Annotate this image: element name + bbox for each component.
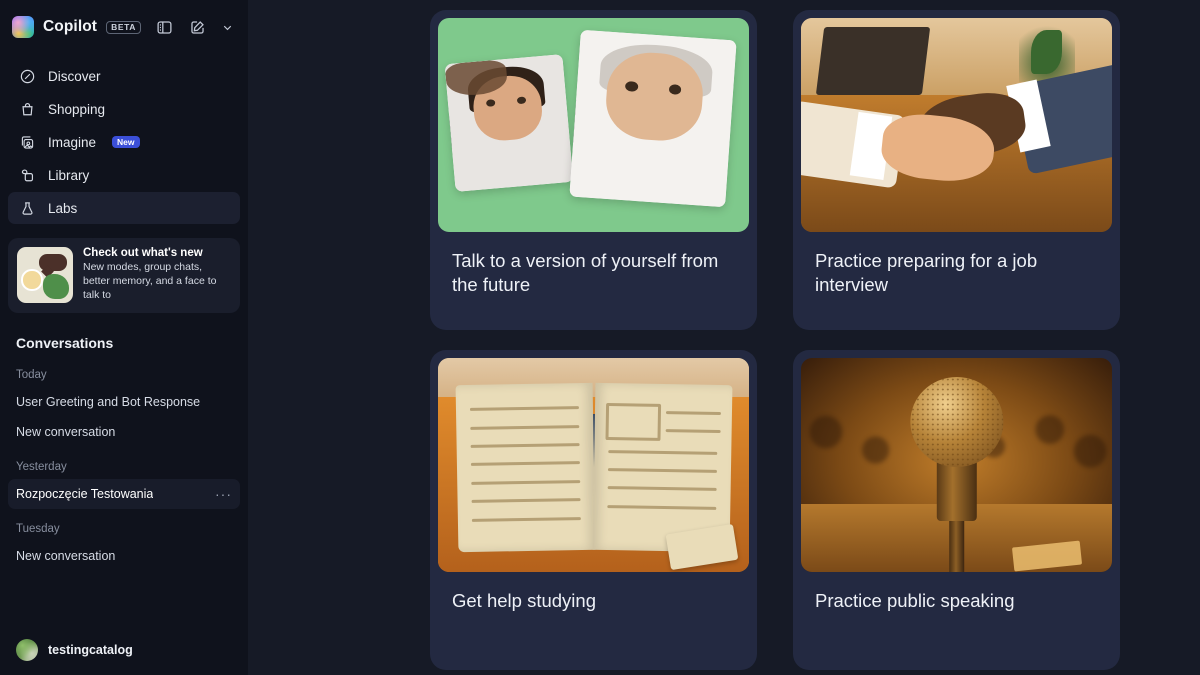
compose-icon[interactable]	[185, 15, 209, 39]
whats-new-promo-card[interactable]: Check out what's new New modes, group ch…	[8, 238, 240, 313]
sidebar-header: Copilot BETA	[0, 0, 248, 54]
image-icon	[18, 133, 36, 151]
sidebar-item-shopping[interactable]: Shopping	[8, 93, 240, 125]
avatar	[16, 639, 38, 661]
copilot-logo-icon	[12, 16, 34, 38]
conversation-title: New conversation	[16, 425, 115, 439]
conversation-title: Rozpoczęcie Testowania	[16, 487, 153, 501]
card-job-interview[interactable]: Practice preparing for a job interview	[793, 10, 1120, 330]
header-actions	[152, 15, 236, 39]
conversation-list: Today User Greeting and Bot Response New…	[0, 355, 248, 571]
brand[interactable]: Copilot BETA	[12, 16, 141, 38]
conversation-group-label: Tuesday	[8, 509, 240, 541]
card-public-speaking[interactable]: Practice public speaking	[793, 350, 1120, 670]
user-account-row[interactable]: testingcatalog	[0, 625, 248, 675]
list-item[interactable]: User Greeting and Bot Response	[8, 387, 240, 417]
flask-icon	[18, 199, 36, 217]
conversation-title: New conversation	[16, 549, 115, 563]
card-title: Practice preparing for a job interview	[801, 232, 1112, 298]
conversation-group-label: Yesterday	[8, 447, 240, 479]
conversation-title: User Greeting and Bot Response	[16, 395, 200, 409]
library-icon	[18, 166, 36, 184]
card-title: Practice public speaking	[801, 572, 1112, 613]
card-title: Get help studying	[438, 572, 749, 613]
sidebar-item-label: Shopping	[48, 102, 105, 117]
suggestion-card-grid: Talk to a version of yourself from the f…	[430, 10, 1120, 670]
list-item[interactable]: Rozpoczęcie Testowania ···	[8, 479, 240, 509]
list-item[interactable]: New conversation	[8, 417, 240, 447]
sidebar-item-label: Library	[48, 168, 89, 183]
shopping-bag-icon	[18, 100, 36, 118]
brand-name: Copilot	[43, 18, 97, 36]
app-root: Copilot BETA	[0, 0, 1200, 675]
panel-left-icon[interactable]	[152, 15, 176, 39]
new-badge: New	[112, 136, 139, 149]
conversation-group-label: Today	[8, 355, 240, 387]
sidebar-item-discover[interactable]: Discover	[8, 60, 240, 92]
sidebar-item-library[interactable]: Library	[8, 159, 240, 191]
card-title: Talk to a version of yourself from the f…	[438, 232, 749, 298]
open-book-illustration	[438, 358, 749, 572]
sidebar-item-label: Discover	[48, 69, 101, 84]
promo-subtitle: New modes, group chats, better memory, a…	[83, 261, 230, 303]
overflow-menu-icon[interactable]: ···	[215, 487, 232, 501]
sidebar-item-label: Labs	[48, 201, 77, 216]
user-name: testingcatalog	[48, 643, 133, 657]
sidebar-item-imagine[interactable]: Imagine New	[8, 126, 240, 158]
sidebar-item-label: Imagine	[48, 135, 96, 150]
chevron-down-icon[interactable]	[218, 15, 236, 39]
handshake-illustration	[801, 18, 1112, 232]
main-content: Talk to a version of yourself from the f…	[248, 0, 1200, 675]
card-talk-to-future-self[interactable]: Talk to a version of yourself from the f…	[430, 10, 757, 330]
promo-text: Check out what's new New modes, group ch…	[83, 247, 230, 303]
card-get-help-studying[interactable]: Get help studying	[430, 350, 757, 670]
beta-badge: BETA	[106, 21, 141, 34]
compass-icon	[18, 67, 36, 85]
sidebar-item-labs[interactable]: Labs	[8, 192, 240, 224]
promo-title: Check out what's new	[83, 247, 230, 259]
sidebar-nav: Discover Shopping	[0, 54, 248, 224]
conversations-heading: Conversations	[0, 313, 248, 351]
future-selves-illustration	[438, 18, 749, 232]
whats-new-thumbnail-icon	[17, 247, 73, 303]
sidebar: Copilot BETA	[0, 0, 248, 675]
list-item[interactable]: New conversation	[8, 541, 240, 571]
microphone-illustration	[801, 358, 1112, 572]
